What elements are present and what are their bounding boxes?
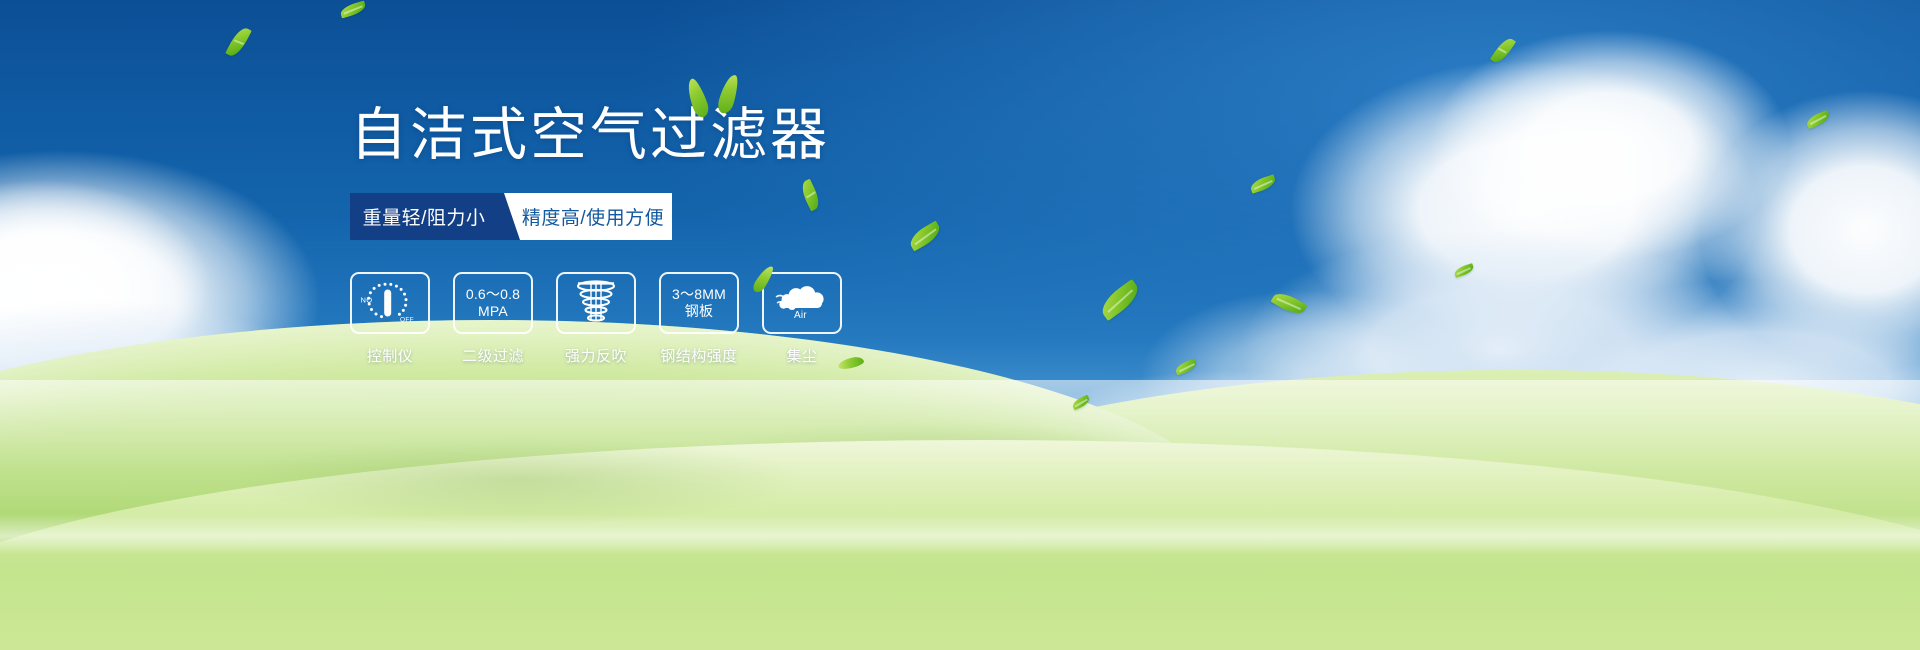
feature-caption: 强力反吹 — [556, 345, 636, 366]
feature-icon-box: 3～8MM 钢板 — [659, 272, 739, 334]
feature-item-two-stage-filter[interactable]: 0.6～0.8 MPA 二级过滤 — [453, 272, 533, 366]
feature-caption: 二级过滤 — [453, 345, 533, 366]
feature-caption: 控制仪 — [350, 345, 430, 366]
feature-caption-wrap: 集尘 — [762, 345, 842, 366]
feature-icon-box — [556, 272, 636, 334]
banner-content: 自洁式空气过滤器 重量轻/阻力小 精度高/使用方便 — [350, 100, 1090, 366]
gauge-dial-icon: NO OFF — [359, 278, 421, 328]
product-hero-banner: 自洁式空气过滤器 重量轻/阻力小 精度高/使用方便 — [0, 0, 1920, 650]
steel-plate-text: 钢板 — [685, 303, 713, 321]
pressure-unit-text: MPA — [478, 303, 508, 321]
feature-icon-row: NO OFF 控制仪 0.6～0.8 MPA 二级过滤 — [350, 272, 1090, 366]
pressure-value-text: 0.6～0.8 — [466, 286, 520, 304]
grass-highlight-band — [0, 514, 1920, 554]
steel-thickness-text: 3～8MM — [672, 286, 726, 304]
svg-text:Air: Air — [794, 310, 807, 320]
tab-label: 精度高/使用方便 — [522, 203, 664, 230]
svg-text:OFF: OFF — [400, 317, 414, 324]
feature-tab-group: 重量轻/阻力小 精度高/使用方便 — [350, 193, 672, 240]
svg-text:NO: NO — [361, 296, 373, 305]
tab-weight-resistance[interactable]: 重量轻/阻力小 — [350, 193, 504, 240]
feature-item-dust-collection[interactable]: Air 集尘 — [762, 272, 842, 366]
feature-caption: 钢结构强度 — [659, 345, 739, 366]
tab-divider — [504, 193, 520, 240]
feature-item-controller[interactable]: NO OFF 控制仪 — [350, 272, 430, 366]
tab-label: 重量轻/阻力小 — [363, 203, 486, 230]
feature-caption: 集尘 — [786, 348, 817, 365]
title-block: 自洁式空气过滤器 — [350, 100, 1090, 171]
feature-item-reverse-blow[interactable]: 强力反吹 — [556, 272, 636, 366]
feature-item-steel-strength[interactable]: 3～8MM 钢板 钢结构强度 — [659, 272, 739, 366]
air-cloud-icon: Air — [774, 286, 830, 320]
feature-icon-box: Air — [762, 272, 842, 334]
feature-icon-box: 0.6～0.8 MPA — [453, 272, 533, 334]
tab-precision-usability[interactable]: 精度高/使用方便 — [520, 193, 672, 240]
feature-icon-box: NO OFF — [350, 272, 430, 334]
stacked-filter-coil-icon — [571, 279, 621, 327]
